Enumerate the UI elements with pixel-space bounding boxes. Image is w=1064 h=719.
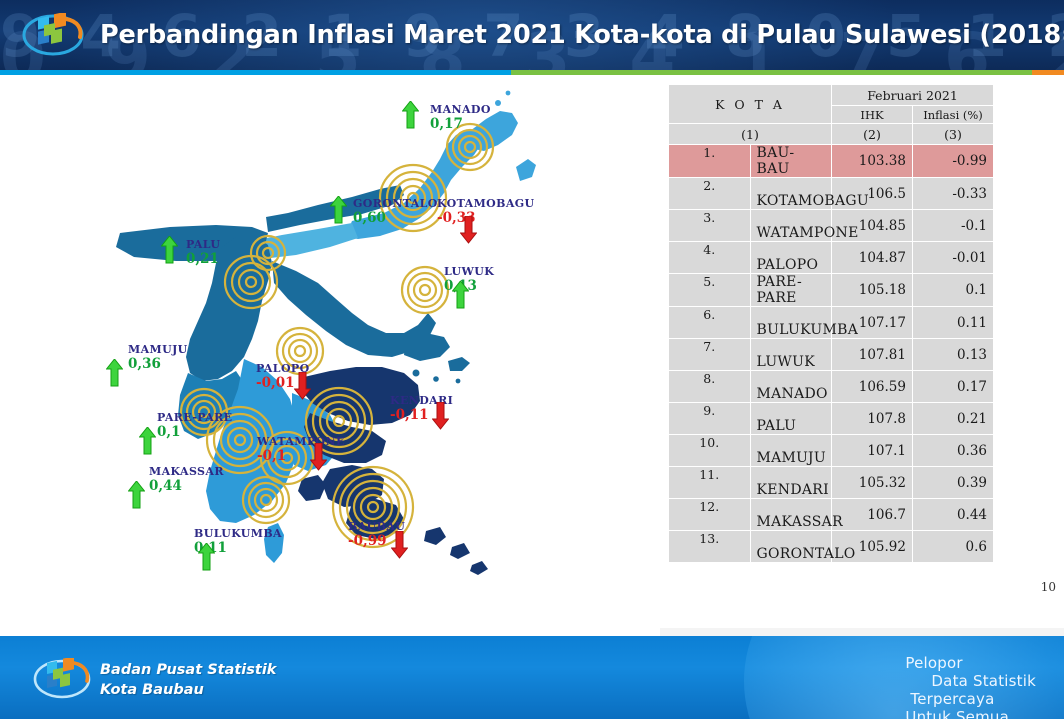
footer-org-line2: Kota Baubau bbox=[100, 680, 276, 700]
row-number: 5. bbox=[669, 274, 751, 307]
slide-body: MANADO0,17GORONTALO0,60KOTAMOBAGU-0,33PA… bbox=[0, 75, 1064, 620]
row-city-name: MAMUJU bbox=[750, 435, 832, 467]
row-city-name: LUWUK bbox=[750, 339, 832, 371]
marker-city-label: BULUKUMBA bbox=[194, 527, 282, 540]
row-inflasi-value: 0.44 bbox=[913, 499, 994, 531]
tagline-line-4: Untuk Semua bbox=[905, 708, 1036, 719]
row-inflasi-value: 0.39 bbox=[913, 467, 994, 499]
marker-value: 0,17 bbox=[430, 116, 491, 132]
ripple-luwuk bbox=[402, 267, 448, 313]
row-city-name: BAU-BAU bbox=[750, 145, 832, 178]
bps-logo-footer-icon bbox=[33, 658, 91, 701]
arrow-down-icon bbox=[460, 216, 477, 244]
map-marker-kotamobagu: KOTAMOBAGU-0,33 bbox=[437, 197, 535, 226]
footer-tagline: Pelopor Data Statistik Terpercaya Untuk … bbox=[905, 654, 1036, 719]
row-number: 6. bbox=[669, 307, 751, 339]
table-body: 1.BAU-BAU103.38-0.992.KOTAMOBAGU106.5-0.… bbox=[669, 145, 994, 563]
map-marker-mamuju: MAMUJU0,36 bbox=[128, 343, 188, 372]
marker-city-label: GORONTALO bbox=[353, 197, 438, 210]
row-number: 7. bbox=[669, 339, 751, 371]
header-col-num-1: (1) bbox=[669, 124, 832, 145]
arrow-up-icon bbox=[161, 236, 178, 264]
row-ihk-value: 107.1 bbox=[832, 435, 913, 467]
header-kota: K O T A bbox=[669, 85, 832, 124]
arrow-up-icon bbox=[330, 196, 347, 224]
row-number: 8. bbox=[669, 371, 751, 403]
marker-city-label: WATAMPONE bbox=[257, 435, 345, 448]
row-number: 10. bbox=[669, 435, 751, 467]
slide-header: 9 4 6 2 1 9 7 3 4 8 0 5 1 2 6 9 3 0 9 2 … bbox=[0, 0, 1064, 70]
row-inflasi-value: 0.6 bbox=[913, 531, 994, 563]
row-ihk-value: 105.32 bbox=[832, 467, 913, 499]
header-ihk: IHK bbox=[832, 106, 913, 124]
row-ihk-value: 103.38 bbox=[832, 145, 913, 178]
marker-city-label: LUWUK bbox=[444, 265, 494, 278]
row-inflasi-value: 0.1 bbox=[913, 274, 994, 307]
header-period: Februari 2021 bbox=[832, 85, 994, 106]
table-head: K O T A Februari 2021 IHK Inflasi (%) (1… bbox=[669, 85, 994, 145]
table-row: 12.MAKASSAR106.70.44 bbox=[669, 499, 994, 531]
marker-value: -0,33 bbox=[437, 210, 535, 226]
marker-value: 0,60 bbox=[353, 210, 438, 226]
table-top-gap bbox=[660, 628, 1064, 636]
marker-city-label: PARE-PARE bbox=[157, 411, 232, 424]
row-city-name: KOTAMOBAGU bbox=[750, 178, 832, 210]
row-inflasi-value: -0.01 bbox=[913, 242, 994, 274]
row-city-name: MANADO bbox=[750, 371, 832, 403]
region-wakatobi-2 bbox=[450, 543, 470, 559]
marker-value: 0,36 bbox=[128, 356, 188, 372]
bps-logo-icon bbox=[22, 13, 84, 58]
tagline-line-1: Pelopor bbox=[905, 654, 1036, 672]
table-row: 1.BAU-BAU103.38-0.99 bbox=[669, 145, 994, 178]
arrow-down-icon bbox=[432, 402, 449, 430]
arrow-up-icon bbox=[402, 101, 419, 129]
row-ihk-value: 106.59 bbox=[832, 371, 913, 403]
inflation-table: K O T A Februari 2021 IHK Inflasi (%) (1… bbox=[668, 84, 994, 563]
row-inflasi-value: 0.11 bbox=[913, 307, 994, 339]
row-number: 1. bbox=[669, 145, 751, 178]
page-number: 10 bbox=[1041, 580, 1056, 594]
footer-org-line1: Badan Pusat Statistik bbox=[100, 660, 276, 680]
islet-north-1 bbox=[495, 100, 501, 106]
row-inflasi-value: -0.33 bbox=[913, 178, 994, 210]
inflation-table-container: K O T A Februari 2021 IHK Inflasi (%) (1… bbox=[668, 84, 994, 563]
footer-organization: Badan Pusat Statistik Kota Baubau bbox=[100, 660, 276, 700]
table-row: 10.MAMUJU107.10.36 bbox=[669, 435, 994, 467]
header-col-num-2: (2) bbox=[832, 124, 913, 145]
region-wakatobi-3 bbox=[470, 561, 488, 575]
table-row: 9.PALU107.80.21 bbox=[669, 403, 994, 435]
map-marker-pare-pare: PARE-PARE0,1 bbox=[157, 411, 232, 440]
row-ihk-value: 107.81 bbox=[832, 339, 913, 371]
table-header-row-3: (1) (2) (3) bbox=[669, 124, 994, 145]
row-city-name: MAKASSAR bbox=[750, 499, 832, 531]
row-number: 13. bbox=[669, 531, 751, 563]
table-row: 6.BULUKUMBA107.170.11 bbox=[669, 307, 994, 339]
row-inflasi-value: -0.99 bbox=[913, 145, 994, 178]
region-sulteng-banggai bbox=[404, 333, 450, 361]
table-row: 13.GORONTALO105.920.6 bbox=[669, 531, 994, 563]
region-banggai-islands bbox=[448, 357, 470, 371]
region-sulut-island bbox=[516, 159, 536, 181]
header-col-num-3: (3) bbox=[913, 124, 994, 145]
slide-root: 9 4 6 2 1 9 7 3 4 8 0 5 1 2 6 9 3 0 9 2 … bbox=[0, 0, 1064, 719]
marker-value: -0,1 bbox=[257, 448, 345, 464]
islet-north-2 bbox=[506, 91, 511, 96]
arrow-up-icon bbox=[198, 543, 215, 571]
table-row: 4.PALOPO104.87-0.01 bbox=[669, 242, 994, 274]
marker-value: 0,21 bbox=[186, 251, 220, 267]
map-marker-manado: MANADO0,17 bbox=[430, 103, 491, 132]
marker-city-label: MAKASSAR bbox=[149, 465, 224, 478]
map-marker-watampone: WATAMPONE-0,1 bbox=[257, 435, 345, 464]
row-number: 3. bbox=[669, 210, 751, 242]
islet-1 bbox=[413, 370, 420, 377]
marker-value: 0,1 bbox=[157, 424, 232, 440]
row-ihk-value: 104.87 bbox=[832, 242, 913, 274]
table-row: 3.WATAMPONE104.85-0.1 bbox=[669, 210, 994, 242]
arrow-down-icon bbox=[391, 531, 408, 559]
arrow-down-icon bbox=[310, 443, 327, 471]
row-inflasi-value: 0.17 bbox=[913, 371, 994, 403]
marker-city-label: KOTAMOBAGU bbox=[437, 197, 535, 210]
table-row: 8.MANADO106.590.17 bbox=[669, 371, 994, 403]
table-row: 11.KENDARI105.320.39 bbox=[669, 467, 994, 499]
row-inflasi-value: 0.36 bbox=[913, 435, 994, 467]
table-header-row-1: K O T A Februari 2021 bbox=[669, 85, 994, 106]
row-city-name: PALU bbox=[750, 403, 832, 435]
row-city-name: PARE-PARE bbox=[750, 274, 832, 307]
arrow-up-icon bbox=[452, 281, 469, 309]
map-marker-makassar: MAKASSAR0,44 bbox=[149, 465, 224, 494]
row-ihk-value: 107.8 bbox=[832, 403, 913, 435]
row-city-name: KENDARI bbox=[750, 467, 832, 499]
region-wakatobi-1 bbox=[424, 527, 446, 545]
islet-3 bbox=[456, 379, 461, 384]
row-inflasi-value: -0.1 bbox=[913, 210, 994, 242]
row-city-name: WATAMPONE bbox=[750, 210, 832, 242]
marker-city-label: MANADO bbox=[430, 103, 491, 116]
table-row: 2.KOTAMOBAGU106.5-0.33 bbox=[669, 178, 994, 210]
row-number: 9. bbox=[669, 403, 751, 435]
marker-value: 0,44 bbox=[149, 478, 224, 494]
islet-2 bbox=[433, 376, 439, 382]
row-number: 4. bbox=[669, 242, 751, 274]
table-row: 7.LUWUK107.810.13 bbox=[669, 339, 994, 371]
tagline-line-3: Terpercaya bbox=[905, 690, 1036, 708]
tagline-line-2: Data Statistik bbox=[905, 672, 1036, 690]
row-number: 11. bbox=[669, 467, 751, 499]
marker-city-label: PALU bbox=[186, 238, 220, 251]
arrow-up-icon bbox=[106, 359, 123, 387]
row-ihk-value: 105.18 bbox=[832, 274, 913, 307]
row-inflasi-value: 0.13 bbox=[913, 339, 994, 371]
row-number: 2. bbox=[669, 178, 751, 210]
arrow-down-icon bbox=[294, 372, 311, 400]
row-ihk-value: 106.7 bbox=[832, 499, 913, 531]
header-inflasi: Inflasi (%) bbox=[913, 106, 994, 124]
row-inflasi-value: 0.21 bbox=[913, 403, 994, 435]
map-marker-gorontalo: GORONTALO0,60 bbox=[353, 197, 438, 226]
marker-city-label: MAMUJU bbox=[128, 343, 188, 356]
table-row: 5.PARE-PARE105.180.1 bbox=[669, 274, 994, 307]
row-city-name: GORONTALO bbox=[750, 531, 832, 563]
arrow-up-icon bbox=[128, 481, 145, 509]
map-marker-palu: PALU0,21 bbox=[186, 238, 220, 267]
row-city-name: PALOPO bbox=[750, 242, 832, 274]
page-title: Perbandingan Inflasi Maret 2021 Kota-kot… bbox=[100, 12, 1064, 58]
sulawesi-map: MANADO0,17GORONTALO0,60KOTAMOBAGU-0,33PA… bbox=[0, 75, 660, 620]
arrow-up-icon bbox=[139, 427, 156, 455]
row-number: 12. bbox=[669, 499, 751, 531]
slide-footer: Badan Pusat Statistik Kota Baubau Pelopo… bbox=[0, 636, 1064, 719]
sulawesi-map-svg bbox=[0, 75, 660, 620]
row-city-name: BULUKUMBA bbox=[750, 307, 832, 339]
